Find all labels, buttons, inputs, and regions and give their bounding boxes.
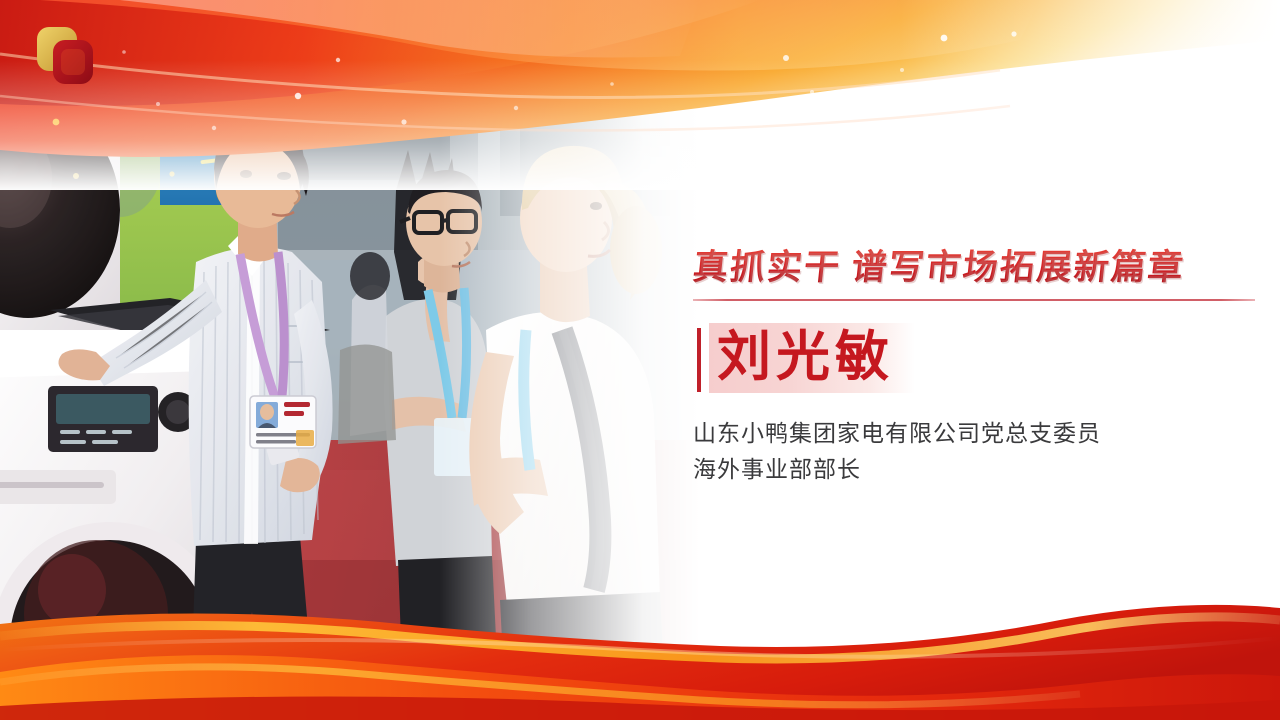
photo-image — [0, 0, 700, 720]
speaker-title-line-1: 山东小鸭集团家电有限公司党总支委员 — [693, 415, 1259, 451]
speaker-name-row: 刘光敏 — [693, 323, 1259, 393]
speaker-photo — [0, 0, 700, 720]
name-accent-bar — [697, 328, 701, 392]
speaker-info-panel: 真抓实干 谱写市场拓展新篇章 刘光敏 山东小鸭集团家电有限公司党总支委员 海外事… — [693, 246, 1259, 487]
headline-divider — [693, 299, 1255, 301]
speaker-title-block: 山东小鸭集团家电有限公司党总支委员 海外事业部部长 — [693, 415, 1259, 487]
brand-logo[interactable] — [34, 24, 96, 86]
speaker-title-line-2: 海外事业部部长 — [693, 451, 1259, 487]
speaker-name: 刘光敏 — [717, 321, 894, 393]
headline-title: 真抓实干 谱写市场拓展新篇章 — [691, 246, 1262, 290]
slide-canvas: 真抓实干 谱写市场拓展新篇章 刘光敏 山东小鸭集团家电有限公司党总支委员 海外事… — [0, 0, 1280, 720]
